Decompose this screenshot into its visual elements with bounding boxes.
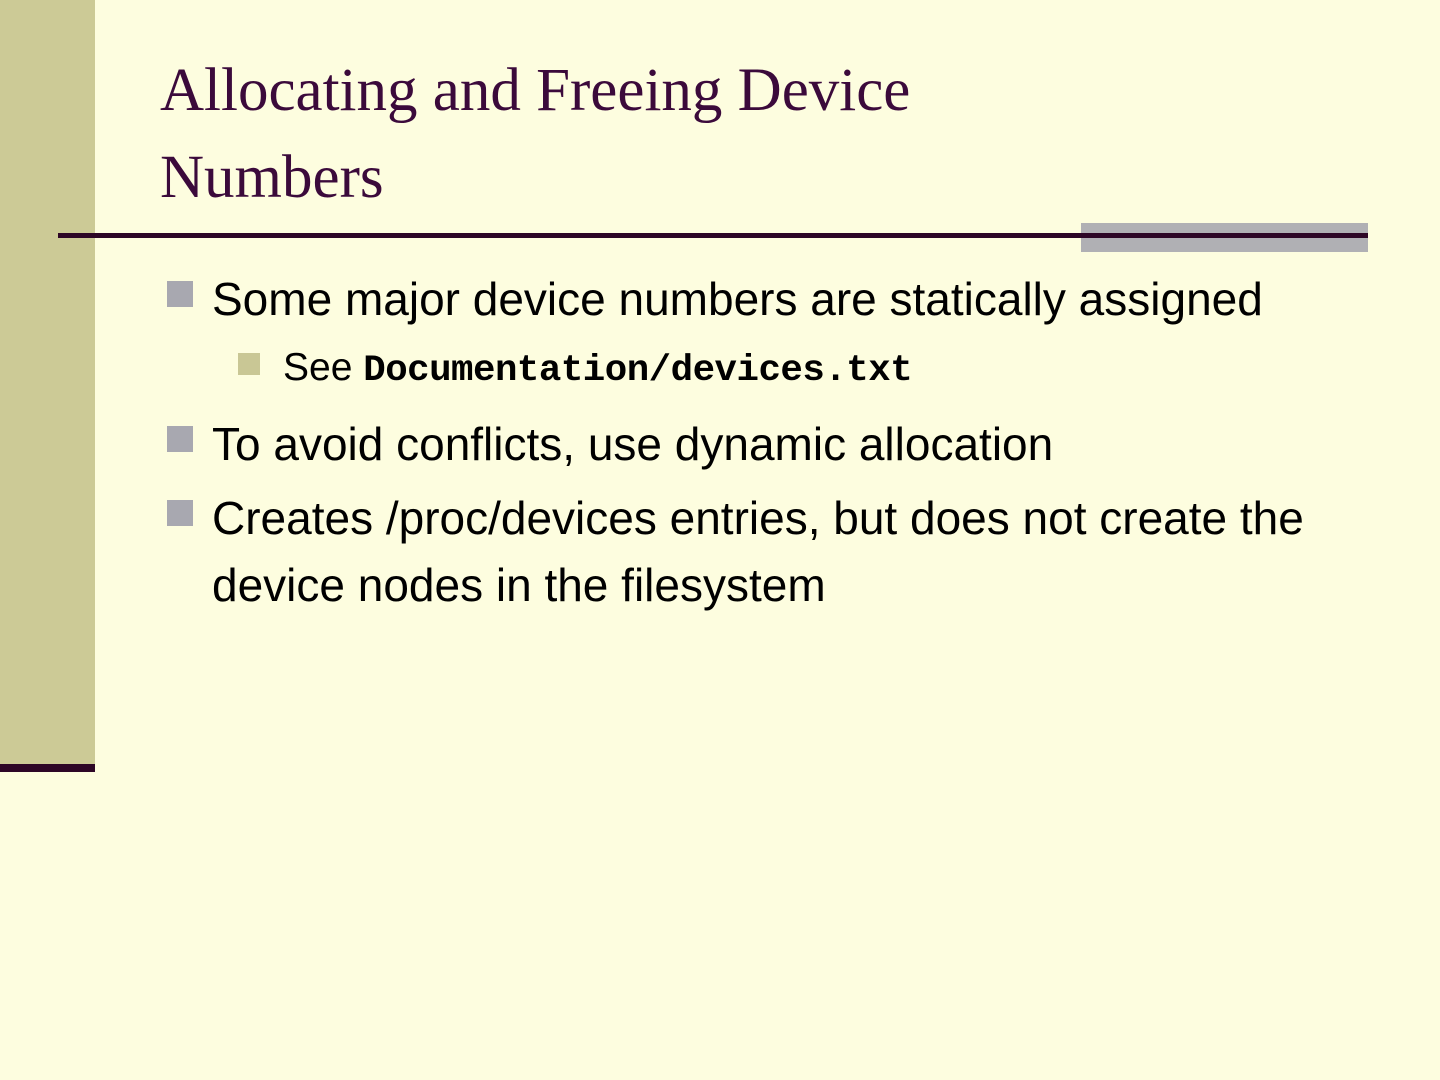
- list-item-label: See Documentation/devices.txt: [283, 340, 1360, 399]
- left-band-footer-rule: [0, 764, 95, 772]
- square-bullet-icon: [238, 353, 260, 375]
- slide-title-line-2: Numbers: [160, 144, 384, 211]
- list-item-label: To avoid conflicts, use dynamic allocati…: [212, 411, 1360, 477]
- slide-title-line-1: Allocating and Freeing Device: [160, 57, 910, 124]
- list-item: See Documentation/devices.txt: [160, 340, 1360, 399]
- list-item: Some major device numbers are statically…: [160, 266, 1360, 332]
- left-decorative-band: [0, 0, 95, 764]
- list-item-label: Some major device numbers are statically…: [212, 266, 1360, 332]
- list-item-label: Creates /proc/devices entries, but does …: [212, 485, 1360, 617]
- square-bullet-icon: [167, 281, 193, 307]
- title-divider-rule: [58, 233, 1368, 238]
- list-item: To avoid conflicts, use dynamic allocati…: [160, 411, 1360, 477]
- list-item-label-prefix: See: [283, 346, 363, 389]
- list-item-label-code: Documentation/devices.txt: [363, 350, 912, 392]
- slide-canvas: Allocating and Freeing Device Numbers So…: [0, 0, 1440, 1080]
- square-bullet-icon: [167, 426, 193, 452]
- slide-body: Some major device numbers are statically…: [160, 266, 1360, 626]
- slide-title: Allocating and Freeing Device Numbers: [160, 48, 1160, 221]
- list-item: Creates /proc/devices entries, but does …: [160, 485, 1360, 617]
- square-bullet-icon: [167, 500, 193, 526]
